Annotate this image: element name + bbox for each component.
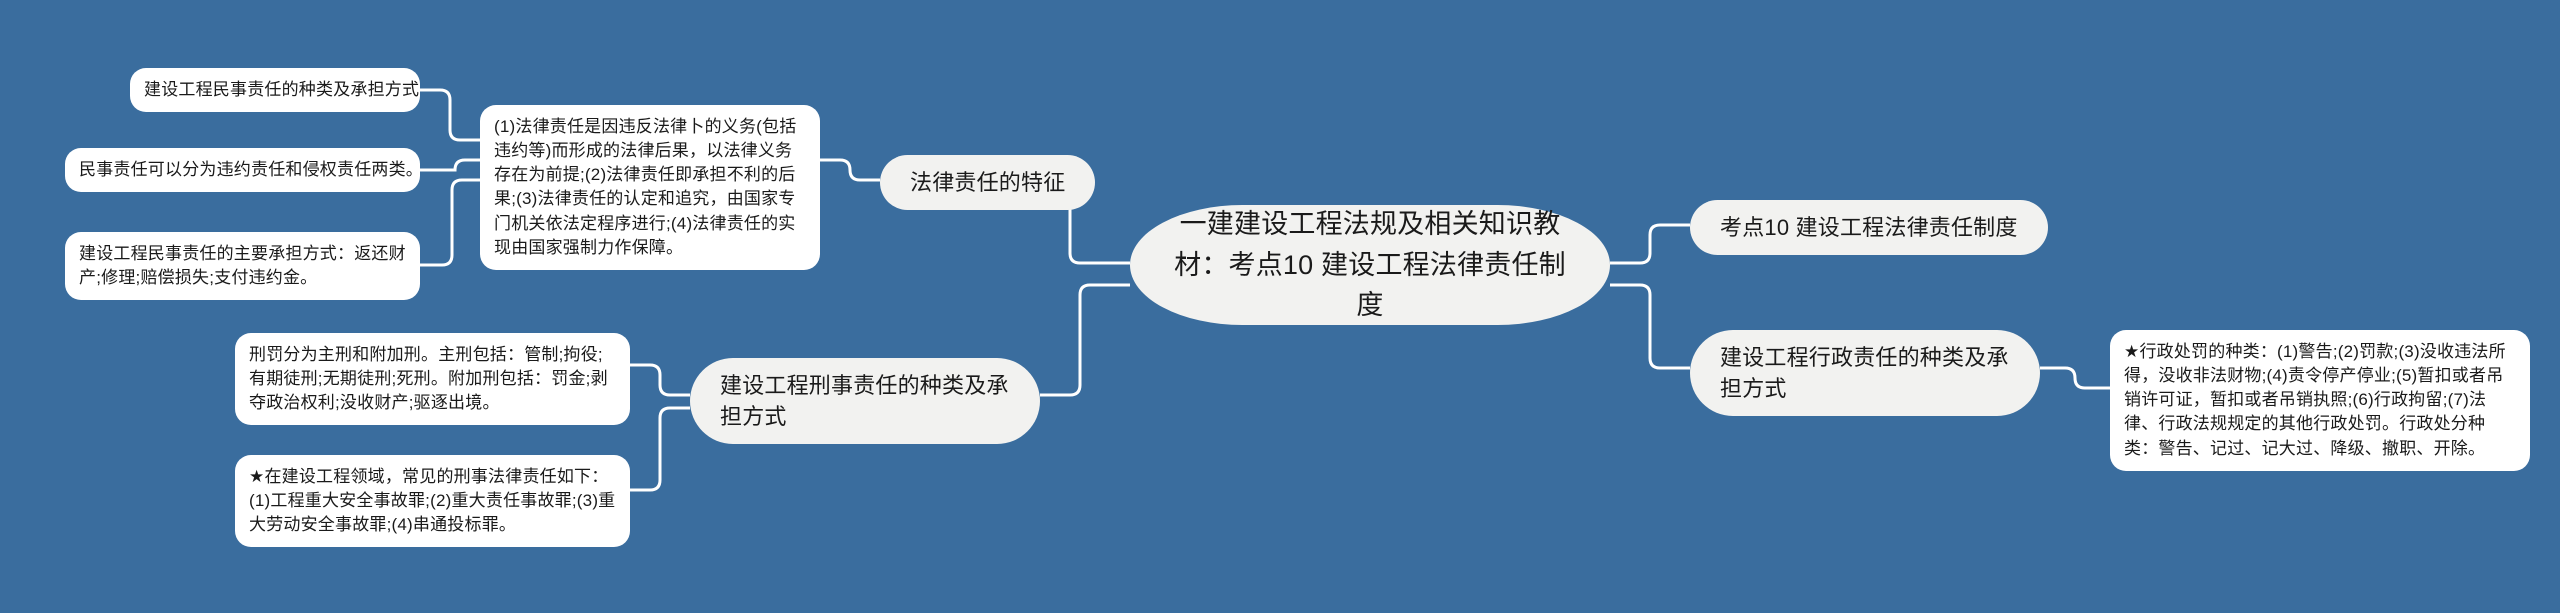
link-features-to-definition	[820, 160, 880, 180]
leaf-criminal-penalty-types[interactable]: 刑罚分为主刑和附加刑。主刑包括：管制;拘役;有期徒刑;无期徒刑;死刑。附加刑包括…	[235, 333, 630, 425]
link-definition-to-methods	[420, 180, 480, 265]
central-topic-label: 一建建设工程法规及相关知识教材：考点10 建设工程法律责任制度	[1166, 204, 1574, 326]
leaf-civil-liability-classification[interactable]: 民事责任可以分为违约责任和侵权责任两类。	[65, 148, 420, 192]
leaf-legal-liability-definition[interactable]: (1)法律责任是因违反法律卜的义务(包括违约等)而形成的法律后果，以法律义务存在…	[480, 105, 820, 270]
central-topic-node[interactable]: 一建建设工程法规及相关知识教材：考点10 建设工程法律责任制度	[1130, 205, 1610, 325]
leaf-criminal-penalty-types-label: 刑罚分为主刑和附加刑。主刑包括：管制;拘役;有期徒刑;无期徒刑;死刑。附加刑包括…	[249, 343, 616, 415]
link-central-to-admin	[1610, 285, 1690, 368]
branch-legal-liability-features[interactable]: 法律责任的特征	[880, 155, 1095, 210]
leaf-common-construction-crimes-label: ★在建设工程领域，常见的刑事法律责任如下：(1)工程重大安全事故罪;(2)重大责…	[249, 465, 616, 537]
leaf-civil-liability-types[interactable]: 建设工程民事责任的种类及承担方式	[130, 68, 420, 112]
branch-criminal-liability[interactable]: 建设工程刑事责任的种类及承担方式	[690, 358, 1040, 444]
branch-administrative-liability-label: 建设工程行政责任的种类及承担方式	[1720, 342, 2010, 404]
leaf-civil-liability-methods-label: 建设工程民事责任的主要承担方式：返还财产;修理;赔偿损失;支付违约金。	[79, 242, 406, 290]
branch-exam-point-10-label: 考点10 建设工程法律责任制度	[1720, 212, 2018, 243]
branch-administrative-liability[interactable]: 建设工程行政责任的种类及承担方式	[1690, 330, 2040, 416]
leaf-civil-liability-types-label: 建设工程民事责任的种类及承担方式	[144, 78, 419, 102]
link-criminal-to-crimes	[630, 408, 690, 490]
link-definition-to-classification	[420, 160, 480, 170]
leaf-common-construction-crimes[interactable]: ★在建设工程领域，常见的刑事法律责任如下：(1)工程重大安全事故罪;(2)重大责…	[235, 455, 630, 547]
leaf-administrative-penalty-types[interactable]: ★行政处罚的种类：(1)警告;(2)罚款;(3)没收违法所得，没收非法财物;(4…	[2110, 330, 2530, 471]
link-definition-to-civil-types	[420, 90, 480, 140]
branch-exam-point-10[interactable]: 考点10 建设工程法律责任制度	[1690, 200, 2048, 255]
mindmap-canvas: 建设工程民事责任的种类及承担方式 民事责任可以分为违约责任和侵权责任两类。 建设…	[0, 0, 2560, 613]
link-central-to-criminal	[1040, 285, 1130, 395]
branch-criminal-liability-label: 建设工程刑事责任的种类及承担方式	[720, 370, 1010, 432]
link-criminal-to-penalties	[630, 365, 690, 395]
leaf-administrative-penalty-types-label: ★行政处罚的种类：(1)警告;(2)罚款;(3)没收违法所得，没收非法财物;(4…	[2124, 340, 2516, 461]
leaf-legal-liability-definition-label: (1)法律责任是因违反法律卜的义务(包括违约等)而形成的法律后果，以法律义务存在…	[494, 115, 806, 260]
link-admin-to-penalty	[2040, 368, 2110, 388]
branch-legal-liability-features-label: 法律责任的特征	[910, 167, 1065, 198]
leaf-civil-liability-methods[interactable]: 建设工程民事责任的主要承担方式：返还财产;修理;赔偿损失;支付违约金。	[65, 232, 420, 300]
link-central-to-exam10	[1610, 225, 1690, 263]
leaf-civil-liability-classification-label: 民事责任可以分为违约责任和侵权责任两类。	[79, 158, 423, 182]
